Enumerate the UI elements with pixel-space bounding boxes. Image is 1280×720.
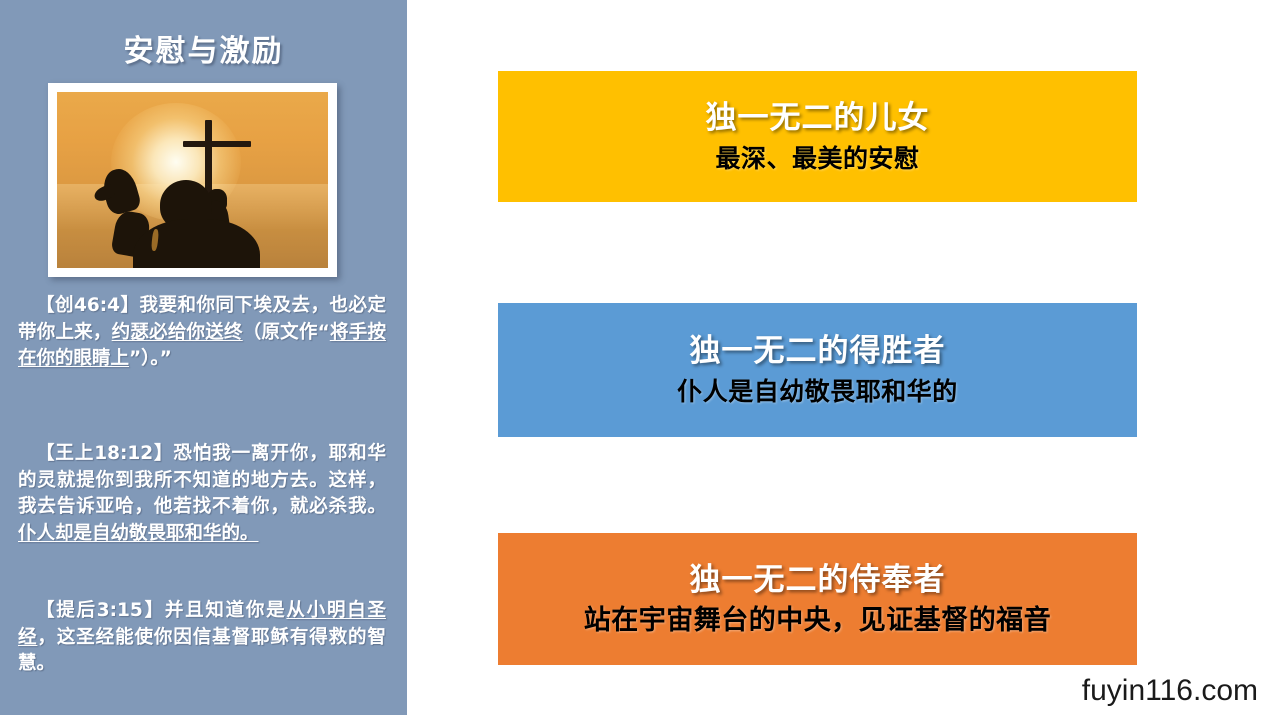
sidebar-panel: 安慰与激励 【创46:4】我要和你同下埃及去，也必定带你上来，约瑟必给你送终（原…	[0, 0, 407, 715]
photo-frame	[48, 83, 337, 277]
banner-victor[interactable]: 独一无二的得胜者 仆人是自幼敬畏耶和华的	[498, 303, 1137, 437]
banner-victor-subtitle: 仆人是自幼敬畏耶和华的	[677, 375, 958, 409]
banner-children-title: 独一无二的儿女	[706, 98, 930, 138]
banner-servant-title: 独一无二的侍奉者	[690, 560, 946, 600]
banner-servant-subtitle: 站在宇宙舞台的中央，见证基督的福音	[584, 604, 1052, 638]
bible-verse-genesis: 【创46:4】我要和你同下埃及去，也必定带你上来，约瑟必给你送终（原文作“将手按…	[18, 293, 386, 373]
cross-icon-horizontal	[183, 141, 251, 147]
banner-servant[interactable]: 独一无二的侍奉者 站在宇宙舞台的中央，见证基督的福音	[498, 533, 1137, 665]
sidebar-title: 安慰与激励	[0, 26, 407, 70]
cross-silhouette-sunset-photo	[57, 92, 328, 268]
bible-verse-1kings: 【王上18:12】恐怕我一离开你，耶和华的灵就提你到我所不知道的地方去。这样，我…	[18, 441, 386, 547]
banner-victor-title: 独一无二的得胜者	[690, 331, 946, 371]
banner-children[interactable]: 独一无二的儿女 最深、最美的安慰	[498, 71, 1137, 202]
site-watermark: fuyin116.com	[1082, 674, 1258, 708]
slide-canvas: 安慰与激励 【创46:4】我要和你同下埃及去，也必定带你上来，约瑟必给你送终（原…	[0, 0, 1280, 720]
banner-children-subtitle: 最深、最美的安慰	[715, 142, 919, 176]
bible-verse-2timothy: 【提后3:15】并且知道你是从小明白圣经，这圣经能使你因信基督耶稣有得救的智慧。	[18, 598, 386, 678]
